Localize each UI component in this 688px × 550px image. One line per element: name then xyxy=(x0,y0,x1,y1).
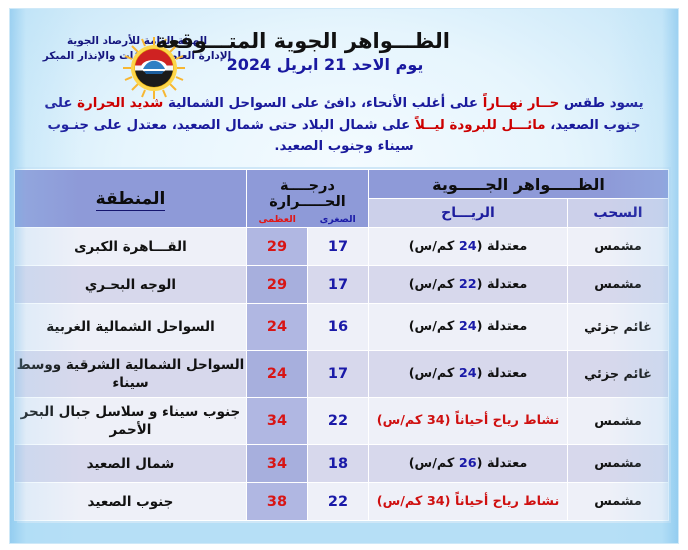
header-wind: الريـــاح xyxy=(368,199,567,228)
cell-region: السواحل الشمالية الشرقية ووسط سيناء xyxy=(14,351,246,398)
cell-temp-max: 24 xyxy=(246,351,307,398)
cell-cloud: مشمس xyxy=(568,483,669,521)
cell-wind: معتدلة (22 كم/س) xyxy=(368,266,567,304)
header-temperature-sublabels: الصغرى العظمى xyxy=(247,214,368,225)
wind-speed: (24 كم/س) xyxy=(409,239,483,254)
cell-temp-min: 17 xyxy=(307,266,368,304)
wind-speed: (26 كم/س) xyxy=(409,456,483,471)
wind-speed: (24 كم/س) xyxy=(409,319,483,334)
cell-temp-min: 16 xyxy=(307,304,368,351)
cell-temp-max: 24 xyxy=(246,304,307,351)
cell-temp-min: 17 xyxy=(307,351,368,398)
table-body: مشمسمعتدلة (24 كم/س)1729القـــاهرة الكبر… xyxy=(14,228,668,521)
cell-wind: نشاط رياح أحياناً (34 كم/س) xyxy=(368,398,567,445)
wind-speed: (22 كم/س) xyxy=(409,277,483,292)
cell-temp-max: 29 xyxy=(246,228,307,266)
header-temp-max: العظمى xyxy=(247,214,308,225)
wind-label: نشاط رياح أحياناً xyxy=(451,494,560,509)
header-cloud: السحب xyxy=(568,199,669,228)
cell-temp-min: 22 xyxy=(307,483,368,521)
cell-wind: معتدلة (26 كم/س) xyxy=(368,445,567,483)
cell-wind: معتدلة (24 كم/س) xyxy=(368,228,567,266)
wind-label: معتدلة xyxy=(482,277,527,292)
summary-highlight-hot-day: حــار نهــاراً xyxy=(483,96,560,111)
forecast-canvas: الهيئة العامة للأرصاد الجوية الإدارة الع… xyxy=(9,8,679,544)
cell-wind: معتدلة (24 كم/س) xyxy=(368,304,567,351)
cell-cloud: غائم جزئي xyxy=(568,304,669,351)
header-region-label: المنطقة xyxy=(96,189,166,211)
cell-wind: نشاط رياح أحياناً (34 كم/س) xyxy=(368,483,567,521)
forecast-summary: يسود طقس حــار نهــاراً على أغلب الأنحاء… xyxy=(32,93,656,158)
cell-region: جنوب سيناء و سلاسل جبال البحر الأحمر xyxy=(14,398,246,445)
table-head: الظـــــواهر الجـــــوية درجــــة الحـــ… xyxy=(14,170,668,228)
summary-part-4: على شمال البلاد حتى شمال الصعيد، معتدل ع… xyxy=(47,118,415,155)
table-row: مشمسنشاط رياح أحياناً (34 كم/س)2238جنوب … xyxy=(14,483,668,521)
table-row: غائم جزئيمعتدلة (24 كم/س)1724السواحل الش… xyxy=(14,351,668,398)
header-region: المنطقة xyxy=(14,170,246,228)
cell-cloud: مشمس xyxy=(568,445,669,483)
wind-speed: (24 كم/س) xyxy=(409,366,483,381)
header-phenomena: الظـــــواهر الجـــــوية xyxy=(368,170,668,199)
table-row: مشمسمعتدلة (22 كم/س)1729الوجه البحـري xyxy=(14,266,668,304)
cell-cloud: مشمس xyxy=(568,266,669,304)
summary-highlight-cold-night: مائـــل للبرودة ليــلاً xyxy=(415,118,546,133)
cell-temp-min: 22 xyxy=(307,398,368,445)
table-row: مشمسمعتدلة (24 كم/س)1729القـــاهرة الكبر… xyxy=(14,228,668,266)
cell-temp-max: 38 xyxy=(246,483,307,521)
cell-temp-max: 29 xyxy=(246,266,307,304)
summary-part-2: على أغلب الأنحاء، دافئ على السواحل الشما… xyxy=(163,96,482,111)
cell-temp-max: 34 xyxy=(246,398,307,445)
cell-temp-min: 18 xyxy=(307,445,368,483)
forecast-table: الظـــــواهر الجـــــوية درجــــة الحـــ… xyxy=(14,169,669,521)
wind-label: معتدلة xyxy=(482,239,527,254)
cell-region: الوجه البحـري xyxy=(14,266,246,304)
wind-label: معتدلة xyxy=(482,366,527,381)
table-row: مشمسنشاط رياح أحياناً (34 كم/س)2234جنوب … xyxy=(14,398,668,445)
header-temp-min: الصغرى xyxy=(307,214,368,225)
header-temperature-label: درجــــة الحـــــرارة xyxy=(247,171,368,211)
wind-label: معتدلة xyxy=(482,456,527,471)
cell-cloud: مشمس xyxy=(568,398,669,445)
cell-region: جنوب الصعيد xyxy=(14,483,246,521)
summary-part-1: يسود طقس xyxy=(559,96,643,111)
title-block: الظـــواهر الجوية المتـــوقعة يوم الاحد … xyxy=(200,29,450,74)
cell-region: شمال الصعيد xyxy=(14,445,246,483)
cell-temp-max: 34 xyxy=(246,445,307,483)
page-header: الهيئة العامة للأرصاد الجوية الإدارة الع… xyxy=(10,9,678,91)
page-title: الظـــواهر الجوية المتـــوقعة xyxy=(200,29,450,53)
forecast-table-wrapper: الظـــــواهر الجـــــوية درجــــة الحـــ… xyxy=(17,167,671,523)
table-header-row-top: الظـــــواهر الجـــــوية درجــــة الحـــ… xyxy=(14,170,668,199)
cell-temp-min: 17 xyxy=(307,228,368,266)
cell-region: السواحل الشمالية الغربية xyxy=(14,304,246,351)
table-row: غائم جزئيمعتدلة (24 كم/س)1624السواحل الش… xyxy=(14,304,668,351)
wind-speed: (34 كم/س) xyxy=(377,413,451,428)
table-row: مشمسمعتدلة (26 كم/س)1834شمال الصعيد xyxy=(14,445,668,483)
wind-speed: (34 كم/س) xyxy=(377,494,451,509)
forecast-page: الهيئة العامة للأرصاد الجوية الإدارة الع… xyxy=(0,0,688,550)
header-temperature: درجــــة الحـــــرارة الصغرى العظمى xyxy=(246,170,368,228)
cell-cloud: مشمس xyxy=(568,228,669,266)
forecast-date: يوم الاحد 21 ابريل 2024 xyxy=(200,55,450,74)
wind-label: نشاط رياح أحياناً xyxy=(451,413,560,428)
cell-region: القـــاهرة الكبرى xyxy=(14,228,246,266)
cell-cloud: غائم جزئي xyxy=(568,351,669,398)
cell-wind: معتدلة (24 كم/س) xyxy=(368,351,567,398)
wind-label: معتدلة xyxy=(482,319,527,334)
